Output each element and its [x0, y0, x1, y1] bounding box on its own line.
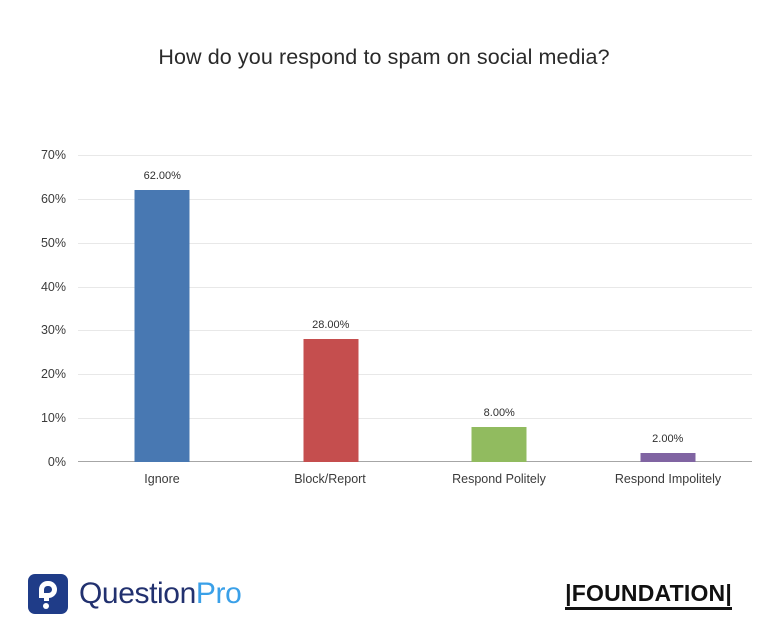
x-axis-label-ignore: Ignore [144, 472, 179, 486]
bar-value-label-respond-impolitely: 2.00% [652, 433, 683, 445]
y-axis-tick-70: 70% [6, 148, 66, 162]
bar-value-label-block-report: 28.00% [312, 319, 349, 331]
bar-block-report[interactable] [303, 339, 358, 462]
bar-group-respond-politely: 8.00% [415, 155, 584, 462]
x-axis-label-respond-politely: Respond Politely [452, 472, 546, 486]
bar-value-label-ignore: 62.00% [144, 170, 181, 182]
y-axis-tick-40: 40% [6, 280, 66, 294]
footer: QuestionPro |FOUNDATION| [0, 556, 768, 638]
y-axis-tick-50: 50% [6, 236, 66, 250]
question-mark-tail [44, 594, 49, 601]
x-axis-label-block-report: Block/Report [294, 472, 366, 486]
questionpro-wordmark: QuestionPro [79, 579, 241, 609]
x-axis-label-respond-impolitely: Respond Impolitely [615, 472, 721, 486]
question-mark-dot [43, 603, 49, 609]
bar-group-ignore: 62.00% [78, 155, 247, 462]
y-axis-tick-0: 0% [6, 455, 66, 469]
y-axis-tick-20: 20% [6, 367, 66, 381]
bar-value-label-respond-politely: 8.00% [484, 407, 515, 419]
bar-respond-impolitely[interactable] [640, 453, 695, 462]
y-axis-tick-10: 10% [6, 411, 66, 425]
bar-ignore[interactable] [135, 190, 190, 462]
bar-chart: 70% 60% 50% 40% 30% 20% 10% 0% 62.00% 28… [0, 0, 768, 520]
wordmark-question: Question [79, 577, 196, 610]
questionpro-mark-icon [28, 574, 68, 614]
bar-series: 62.00% 28.00% 8.00% 2.00% [78, 155, 752, 462]
bar-group-block-report: 28.00% [247, 155, 416, 462]
foundation-brand: |FOUNDATION| [565, 580, 732, 610]
bar-group-respond-impolitely: 2.00% [584, 155, 753, 462]
bar-respond-politely[interactable] [472, 427, 527, 462]
y-axis-tick-60: 60% [6, 192, 66, 206]
y-axis-tick-30: 30% [6, 323, 66, 337]
questionpro-logo[interactable]: QuestionPro [28, 574, 241, 614]
wordmark-pro: Pro [196, 577, 242, 610]
